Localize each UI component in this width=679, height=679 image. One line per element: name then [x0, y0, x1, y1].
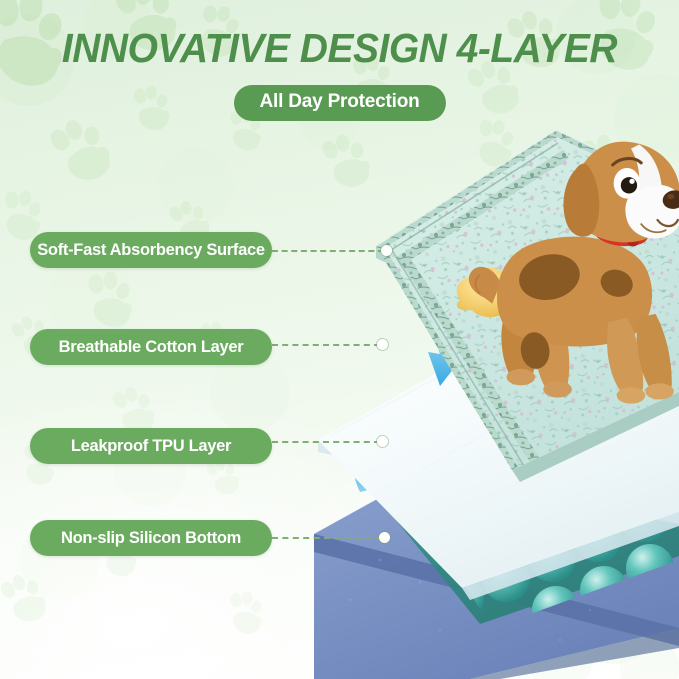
label-leakproof-tpu-layer: Leakproof TPU Layer — [30, 428, 272, 464]
infographic-canvas: INNOVATIVE DESIGN 4-LAYER All Day Protec… — [0, 0, 679, 679]
connector-dot-tpu — [377, 436, 388, 447]
connector-dot-silicon — [379, 532, 390, 543]
absorbency-surface-layer — [360, 120, 679, 482]
connector-line-cotton — [272, 344, 380, 346]
urine-stain — [457, 268, 524, 317]
connector-line-silicon — [272, 537, 382, 539]
label-soft-fast-absorbency-surface: Soft-Fast Absorbency Surface — [30, 232, 272, 268]
page-title: INNOVATIVE DESIGN 4-LAYER — [17, 28, 662, 69]
connector-line-surface — [272, 250, 384, 252]
absorption-arrows-down — [428, 272, 553, 392]
breathability-arrows-up — [354, 358, 600, 492]
all-day-protection-badge: All Day Protection — [233, 85, 445, 121]
connector-dot-surface — [381, 245, 392, 256]
connector-dot-cotton — [377, 339, 388, 350]
cartoon-dog-illustration — [469, 142, 679, 404]
label-breathable-cotton-layer: Breathable Cotton Layer — [30, 329, 272, 365]
breathable-cotton-layer — [318, 306, 679, 600]
label-non-slip-silicon-bottom: Non-slip Silicon Bottom — [30, 520, 272, 556]
connector-line-tpu — [272, 441, 380, 443]
tpu-bubble-layer — [333, 324, 679, 634]
